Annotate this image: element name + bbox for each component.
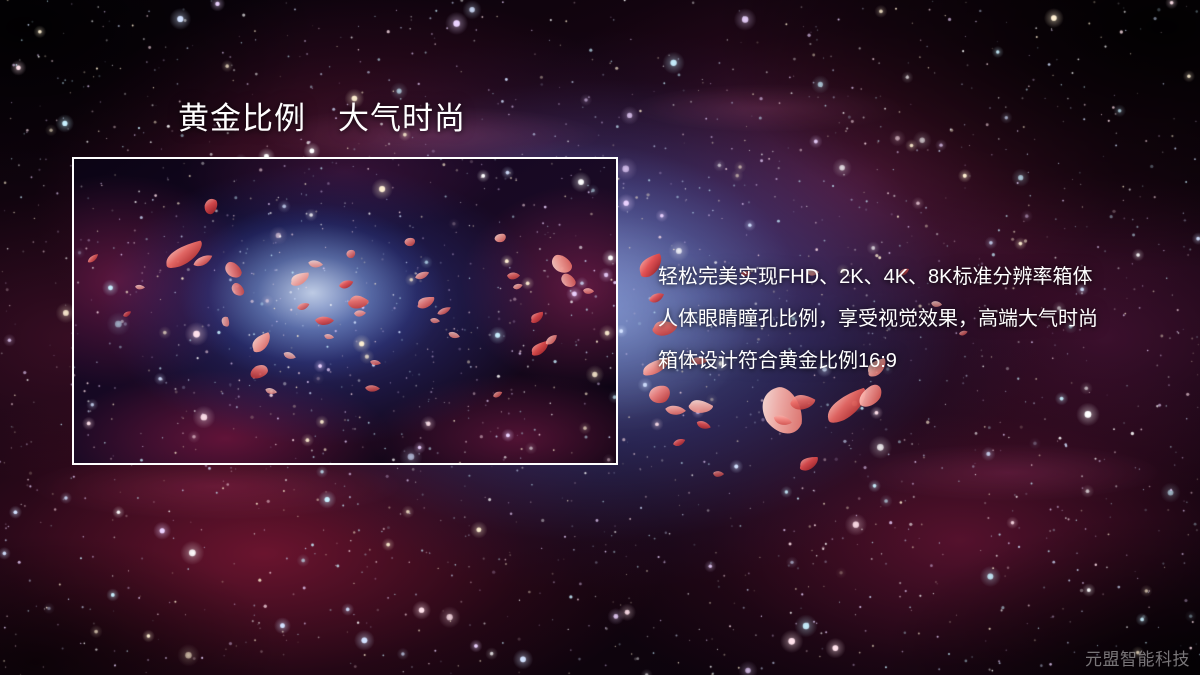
body-line-1: 轻松完美实现FHD、2K、4K、8K标准分辨率箱体 <box>658 256 1168 298</box>
flower-petal <box>711 469 725 481</box>
flower-petal <box>686 394 716 420</box>
flower-petal <box>671 437 687 449</box>
flower-petal <box>647 383 673 406</box>
flower-petal <box>749 375 816 447</box>
flower-petal <box>788 388 819 415</box>
flower-petal <box>853 379 889 414</box>
flower-petal <box>693 417 712 435</box>
flower-petal <box>770 410 794 431</box>
body-line-2: 人体眼睛瞳孔比例，享受视觉效果，高端大气时尚 <box>658 298 1168 340</box>
slide-canvas: 黄金比例 大气时尚 轻松完美实现FHD、2K、4K、8K标准分辨率箱体 人体眼睛… <box>0 0 1200 675</box>
watermark-label: 元盟智能科技 <box>1085 650 1190 670</box>
body-paragraph: 轻松完美实现FHD、2K、4K、8K标准分辨率箱体 人体眼睛瞳孔比例，享受视觉效… <box>658 256 1168 382</box>
flower-petal <box>797 454 821 473</box>
body-line-3: 箱体设计符合黄金比例16:9 <box>658 340 1168 382</box>
flower-petal <box>663 402 688 421</box>
flower-petal <box>819 381 877 428</box>
